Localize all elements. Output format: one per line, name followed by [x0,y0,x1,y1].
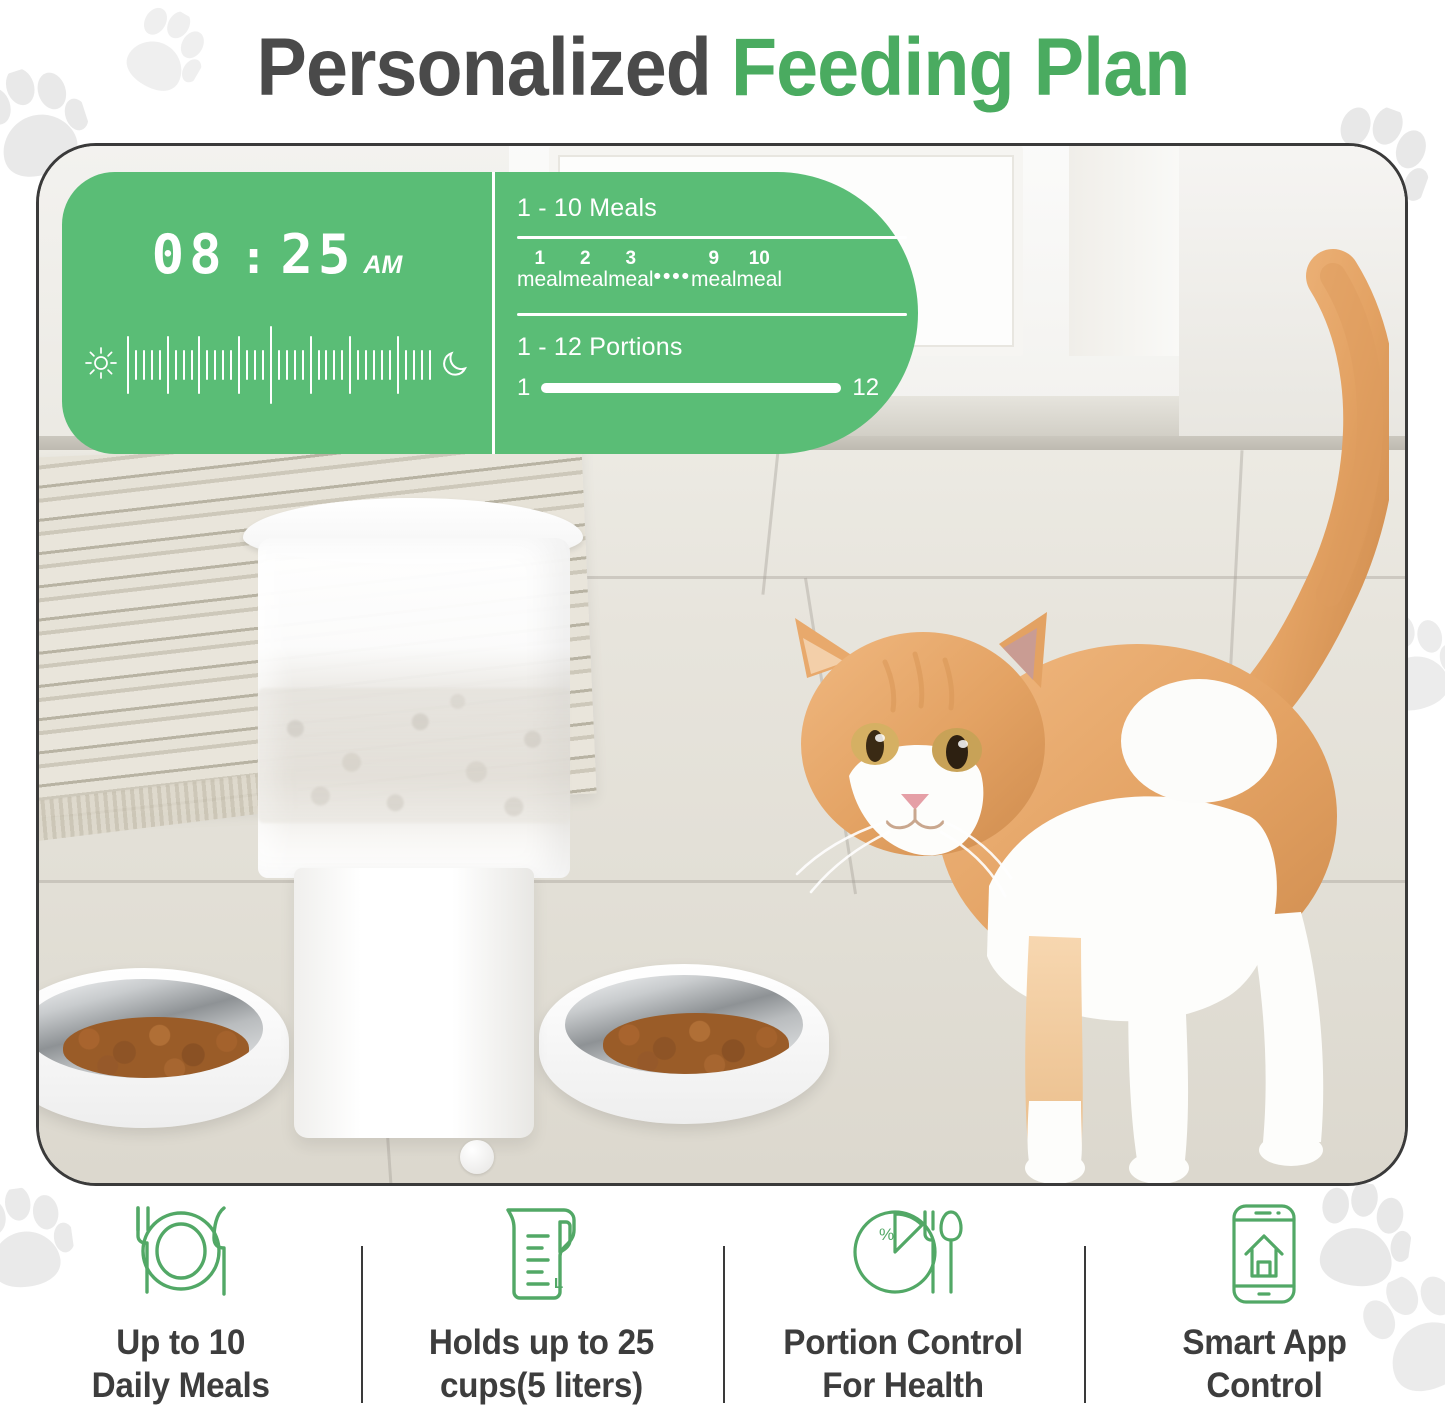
meal-option-label: meal [517,269,563,291]
kibble-fill [258,688,570,823]
digital-clock: 08 : 25 AM [62,228,492,284]
portions-range-title: 1 - 12 Portions [517,333,918,362]
feeding-plan-card: 08 : 25 AM [62,172,918,454]
moon-icon [440,346,474,385]
feature-label: Smart App Control [1182,1322,1346,1407]
portion-slider-track[interactable] [541,383,841,393]
day-night-timeline[interactable] [84,320,474,410]
meal-option[interactable]: 2 meal [563,249,609,291]
page-header: Personalized Feeding Plan [0,0,1445,135]
feeder-hopper [258,538,570,878]
meal-option-label: meal [691,269,737,291]
meal-option[interactable]: 10 meal [737,249,783,291]
feature-label: Holds up to 25 cups(5 liters) [429,1322,654,1407]
portion-slider[interactable]: 1 12 [517,374,918,402]
meal-range-ellipsis: •••• [654,265,691,291]
feeder-knob[interactable] [460,1140,494,1174]
sun-icon [84,346,118,385]
feature-capacity: L Holds up to 25 cups(5 liters) [361,1196,722,1417]
feature-label-line1: Portion Control [783,1323,1023,1362]
feature-smart-app: Smart App Control [1084,1196,1445,1417]
plate-fork-knife-icon [122,1202,240,1306]
pet-feeder-device: NEATSTIR [234,498,594,1138]
feature-label-line1: Smart App [1182,1323,1346,1362]
clock-separator: : [240,230,268,284]
portion-plate-percent-icon: % [843,1202,963,1306]
meal-option-number: 3 [626,249,637,269]
meal-count-scale[interactable]: 1 meal 2 meal 3 meal •••• 9 meal 10 meal [517,249,917,300]
feature-label: Up to 10 Daily Meals [92,1322,270,1407]
meals-divider-top [517,236,907,239]
feature-label-line2: Daily Meals [92,1366,270,1405]
page-title: Personalized Feeding Plan [256,27,1189,109]
feature-label-line2: Control [1206,1366,1322,1405]
feature-label-line2: cups(5 liters) [440,1366,643,1405]
feature-label-line1: Up to 10 [116,1323,245,1362]
clock-hours: 08 [152,228,227,282]
meal-option[interactable]: 1 meal [517,249,563,291]
feature-label-line1: Holds up to 25 [429,1323,654,1362]
meal-option-label: meal [608,269,654,291]
page-title-part1: Personalized [256,22,710,113]
portion-slider-min: 1 [517,374,530,402]
feeder-body: NEATSTIR [294,868,534,1138]
clock-minutes: 25 [280,228,355,282]
meals-range-title: 1 - 10 Meals [517,194,918,223]
svg-text:%: % [879,1225,894,1244]
feature-strip: Up to 10 Daily Meals L Holds up to 25 cu… [0,1196,1445,1417]
feature-daily-meals: Up to 10 Daily Meals [0,1196,361,1417]
smartphone-house-icon [1226,1202,1302,1306]
meal-option[interactable]: 3 meal [608,249,654,291]
meal-option-number: 10 [749,249,770,269]
measuring-jug-icon: L [494,1202,590,1306]
feature-label-line2: For Health [822,1366,984,1405]
meal-option-number: 2 [580,249,591,269]
feature-label: Portion Control For Health [783,1322,1023,1407]
feature-portion-control: % Portion Control For Health [723,1196,1084,1417]
meal-option-label: meal [737,269,783,291]
schedule-panel: 08 : 25 AM [62,172,492,454]
meals-divider-bottom [517,313,907,316]
meal-option-number: 1 [534,249,545,269]
page-title-part2: Feeding Plan [730,22,1188,113]
plan-options-panel: 1 - 10 Meals 1 meal 2 meal 3 meal •••• 9… [492,172,918,454]
portion-slider-max: 12 [852,374,879,402]
clock-meridiem: AM [363,251,402,280]
svg-text:L: L [554,1275,563,1292]
meal-option-number: 9 [708,249,719,269]
meal-option-label: meal [563,269,609,291]
timeline-ticks [127,326,431,404]
meal-option[interactable]: 9 meal [691,249,737,291]
